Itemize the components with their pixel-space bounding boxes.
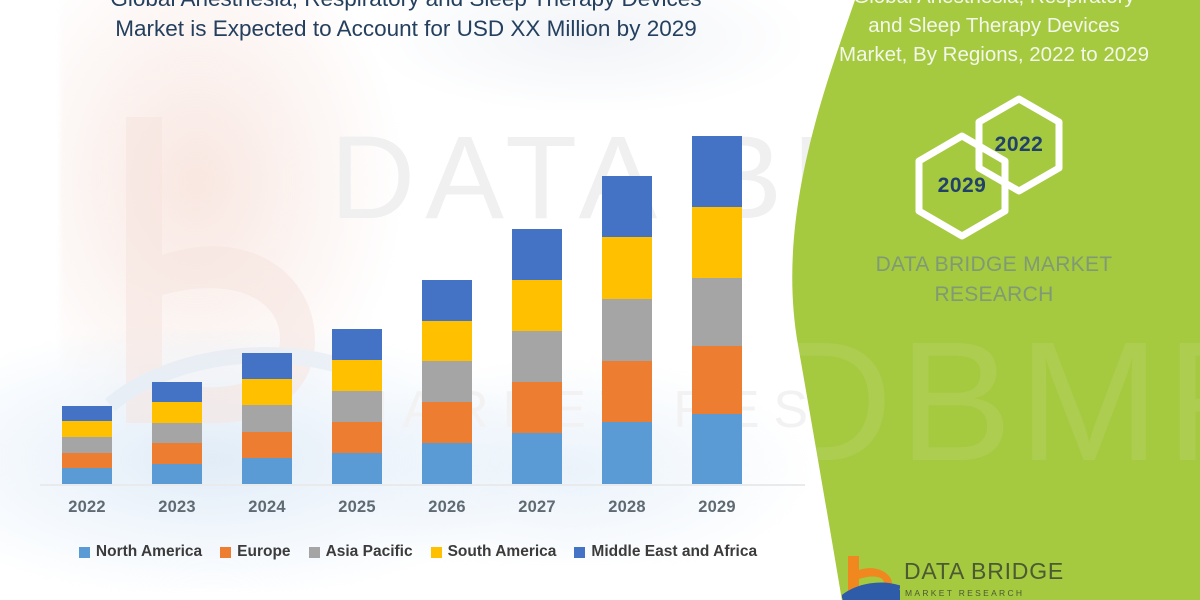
bar-segment — [242, 432, 292, 458]
x-axis-label-2027: 2027 — [502, 498, 572, 517]
bar-segment — [692, 136, 742, 207]
bar-segment — [422, 321, 472, 362]
panel-brand-line-2: RESEARCH — [808, 280, 1180, 310]
bar-segment — [602, 237, 652, 299]
chart-title-line-2: Market is Expected to Account for USD XX… — [56, 14, 756, 44]
bar-segment — [422, 361, 472, 402]
panel-title-line-3: Market, By Regions, 2022 to 2029 — [808, 40, 1180, 69]
bar-group-2023 — [152, 382, 202, 484]
x-axis-label-2024: 2024 — [232, 498, 302, 517]
legend-item-south-america[interactable]: South America — [431, 543, 557, 561]
x-axis-label-2023: 2023 — [142, 498, 212, 517]
bar-segment — [512, 229, 562, 280]
bar-segment — [62, 453, 112, 469]
bar-segment — [242, 405, 292, 431]
chart-title-line-1: Global Anesthesia, Respiratory and Sleep… — [56, 0, 756, 14]
bar-segment — [692, 414, 742, 484]
bar-segment — [152, 402, 202, 422]
bar-segment — [512, 382, 562, 433]
chart-title: Global Anesthesia, Respiratory and Sleep… — [56, 0, 756, 44]
legend-label: North America — [96, 543, 202, 561]
chart-legend: North AmericaEuropeAsia PacificSouth Ame… — [48, 540, 788, 564]
legend-swatch-icon — [574, 547, 585, 558]
bar-group-2029 — [692, 136, 742, 484]
bar-group-2024 — [242, 353, 292, 484]
legend-label: South America — [448, 543, 557, 561]
x-axis-label-2022: 2022 — [52, 498, 122, 517]
hex-badge-2029: 2029 — [910, 130, 1014, 242]
bar-segment — [512, 433, 562, 484]
bar-group-2025 — [332, 329, 382, 484]
bar-segment — [62, 421, 112, 437]
bar-segment — [692, 346, 742, 414]
hex-badge-2029-label: 2029 — [938, 174, 987, 198]
bar-segment — [242, 458, 292, 484]
x-axis-label-2026: 2026 — [412, 498, 482, 517]
bar-group-2028 — [602, 176, 652, 484]
bar-segment — [692, 207, 742, 278]
legend-swatch-icon — [220, 547, 231, 558]
panel-title-line-2: and Sleep Therapy Devices — [808, 11, 1180, 40]
panel-brand-line-1: DATA BRIDGE MARKET — [808, 250, 1180, 280]
bar-segment — [242, 353, 292, 379]
legend-item-europe[interactable]: Europe — [220, 543, 290, 561]
company-logo-name: DATA BRIDGE — [904, 558, 1064, 585]
company-logo: DATA BRIDGE MARKET RESEARCH — [842, 552, 1072, 600]
bar-segment — [602, 422, 652, 484]
bar-segment — [62, 437, 112, 453]
x-axis-labels: 20222023202420252026202720282029 — [40, 498, 800, 524]
legend-label: Europe — [237, 543, 290, 561]
bar-segment — [332, 453, 382, 484]
bar-group-2022 — [62, 406, 112, 484]
x-axis-line — [40, 484, 805, 486]
bar-segment — [512, 280, 562, 331]
bar-segment — [152, 443, 202, 463]
legend-swatch-icon — [431, 547, 442, 558]
x-axis-label-2029: 2029 — [682, 498, 752, 517]
bar-segment — [152, 464, 202, 484]
bar-segment — [692, 278, 742, 346]
svg-text:DBMR: DBMR — [780, 307, 1200, 497]
infographic-canvas: DATA BRIDGE MARKET RESEARCH Global Anest… — [0, 0, 1200, 600]
bar-segment — [152, 423, 202, 443]
bar-segment — [332, 422, 382, 453]
right-green-panel: DBMR Global Anesthesia, Respiratory and … — [780, 0, 1200, 600]
bar-segment — [332, 360, 382, 391]
bar-segment — [62, 406, 112, 422]
panel-brand-text: DATA BRIDGE MARKET RESEARCH — [808, 250, 1180, 310]
legend-label: Asia Pacific — [326, 543, 413, 561]
legend-item-north-america[interactable]: North America — [79, 543, 202, 561]
hex-badge-2022-label: 2022 — [995, 133, 1044, 157]
x-axis-label-2028: 2028 — [592, 498, 662, 517]
bar-segment — [242, 379, 292, 405]
bar-group-2026 — [422, 280, 472, 484]
bar-segment — [602, 361, 652, 423]
panel-title: Global Anesthesia, Respiratory and Sleep… — [808, 0, 1180, 69]
bar-segment — [332, 391, 382, 422]
x-axis-label-2025: 2025 — [322, 498, 392, 517]
legend-item-middle-east-and-africa[interactable]: Middle East and Africa — [574, 543, 757, 561]
legend-swatch-icon — [79, 547, 90, 558]
legend-label: Middle East and Africa — [591, 543, 757, 561]
panel-title-line-1: Global Anesthesia, Respiratory — [808, 0, 1180, 11]
legend-swatch-icon — [309, 547, 320, 558]
bar-segment — [422, 443, 472, 484]
bar-segment — [332, 329, 382, 360]
bar-segment — [602, 176, 652, 238]
legend-item-asia-pacific[interactable]: Asia Pacific — [309, 543, 413, 561]
data-bridge-logo-icon — [842, 554, 900, 600]
bar-segment — [422, 280, 472, 321]
bar-segment — [602, 299, 652, 361]
bar-segment — [152, 382, 202, 402]
company-logo-tagline: MARKET RESEARCH — [905, 588, 1024, 598]
bar-segment — [512, 331, 562, 382]
hex-badge-2022: 2022 — [971, 93, 1067, 197]
bar-segment — [62, 468, 112, 484]
bar-segment — [422, 402, 472, 443]
bar-group-2027 — [512, 229, 562, 484]
stacked-bar-chart — [40, 120, 800, 484]
